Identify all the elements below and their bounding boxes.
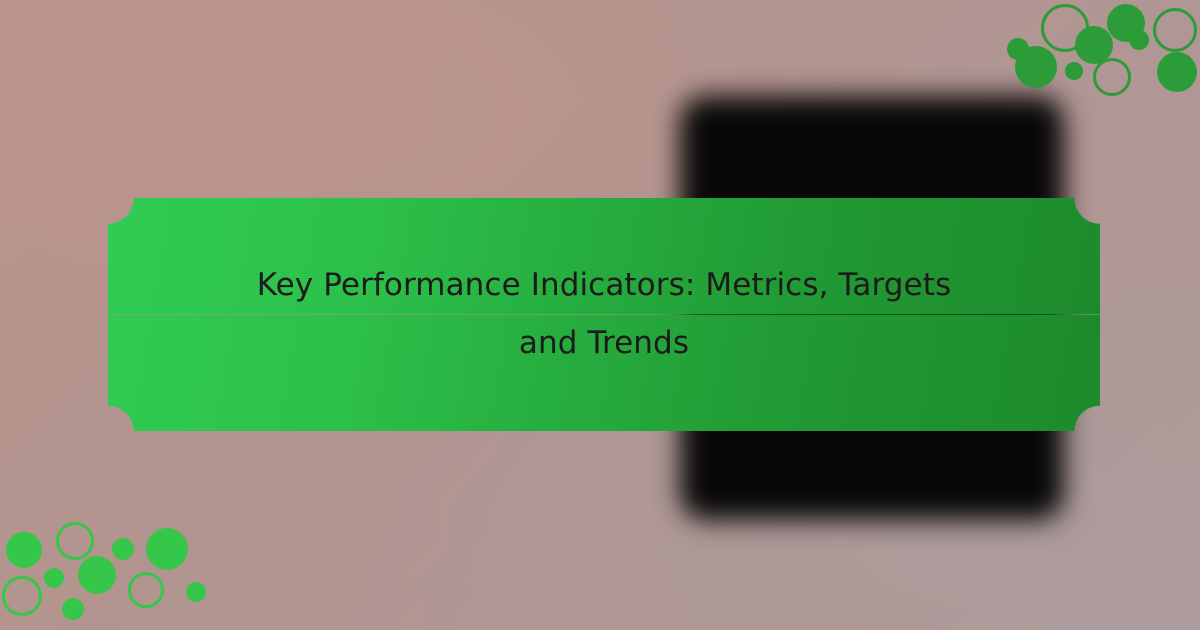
page-title: Key Performance Indicators: Metrics, Tar…	[224, 257, 984, 372]
title-banner: Key Performance Indicators: Metrics, Tar…	[108, 198, 1100, 431]
poster-canvas: Key Performance Indicators: Metrics, Tar…	[0, 0, 1200, 630]
